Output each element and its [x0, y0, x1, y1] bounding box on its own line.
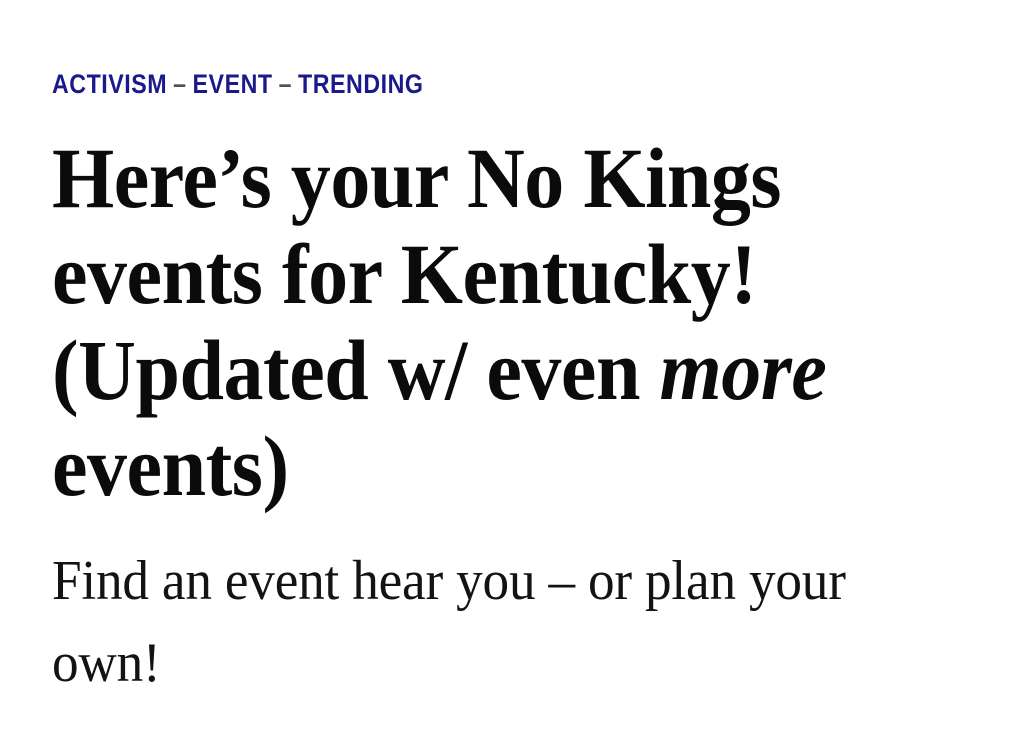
- article-headline: Here’s your No Kings events for Kentucky…: [52, 130, 889, 514]
- kicker-category-trending[interactable]: TRENDING: [298, 69, 423, 99]
- headline-emphasis-more: more: [659, 322, 826, 418]
- kicker-separator-1: –: [167, 69, 192, 99]
- article-dek: Find an event hear you – or plan your ow…: [52, 540, 926, 704]
- kicker-category-list: ACTIVISM–EVENT–TRENDING: [52, 68, 423, 100]
- headline-text-tail: events): [52, 418, 289, 514]
- kicker-separator-2: –: [273, 69, 298, 99]
- kicker-category-activism[interactable]: ACTIVISM: [52, 69, 167, 99]
- kicker-category-event[interactable]: EVENT: [193, 69, 273, 99]
